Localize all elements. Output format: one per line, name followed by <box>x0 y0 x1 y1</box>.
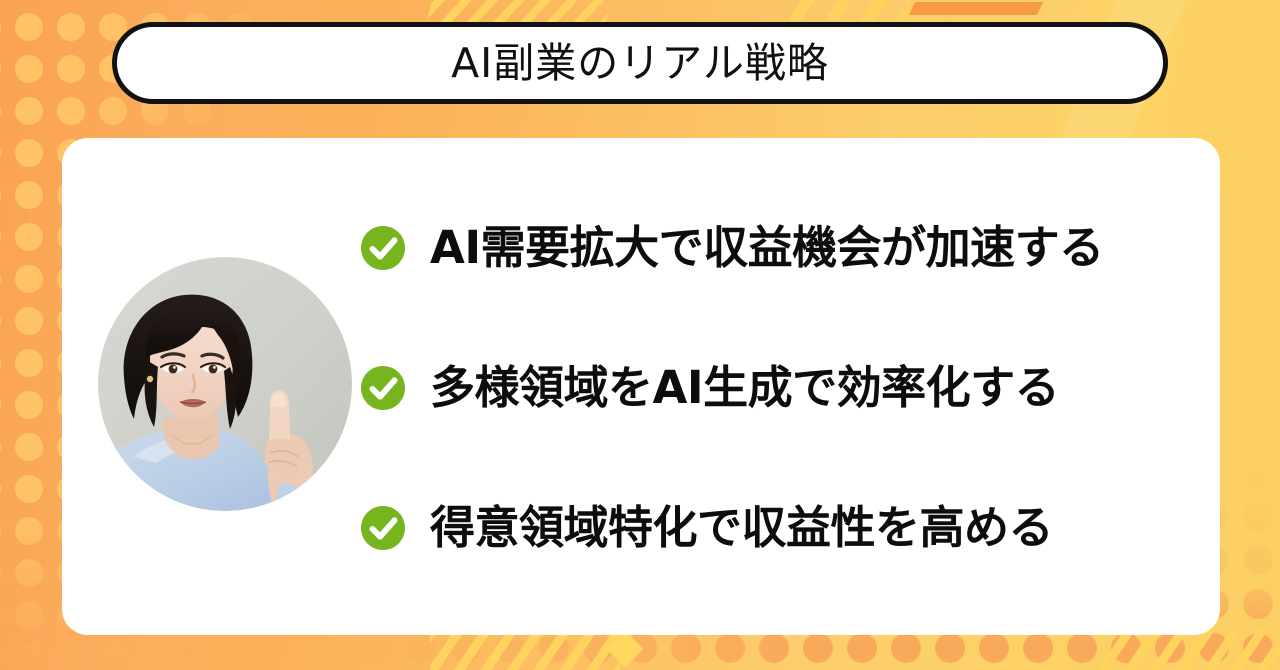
bullet-list: AI需要拡大で収益機会が加速する 多様領域をAI生成で効率化する 得意領域特化で… <box>360 178 1210 598</box>
slide-canvas: AI副業のリアル戦略 <box>0 0 1280 670</box>
avatar-photo <box>98 257 352 511</box>
diagonal-stripes-bottom-left <box>430 632 620 670</box>
accent-bar-top <box>909 2 1043 15</box>
check-circle-icon <box>360 505 406 551</box>
check-circle-icon <box>360 225 406 271</box>
diagonal-stripes-top-right <box>790 0 910 20</box>
title-banner: AI副業のリアル戦略 <box>112 22 1168 104</box>
content-card: AI需要拡大で収益機会が加速する 多様領域をAI生成で効率化する 得意領域特化で… <box>62 138 1220 635</box>
list-item-label: 得意領域特化で収益性を高める <box>430 504 1053 551</box>
avatar <box>98 257 352 511</box>
list-item: 多様領域をAI生成で効率化する <box>360 357 1210 419</box>
page-title: AI副業のリアル戦略 <box>451 43 829 84</box>
check-circle-icon <box>360 365 406 411</box>
list-item-label: 多様領域をAI生成で効率化する <box>430 364 1059 411</box>
list-item: AI需要拡大で収益機会が加速する <box>360 217 1210 279</box>
list-item: 得意領域特化で収益性を高める <box>360 497 1210 559</box>
diagonal-stripes-bottom-right <box>1100 630 1280 670</box>
list-item-label: AI需要拡大で収益機会が加速する <box>430 224 1104 271</box>
accent-diamond-bottom <box>607 631 644 668</box>
